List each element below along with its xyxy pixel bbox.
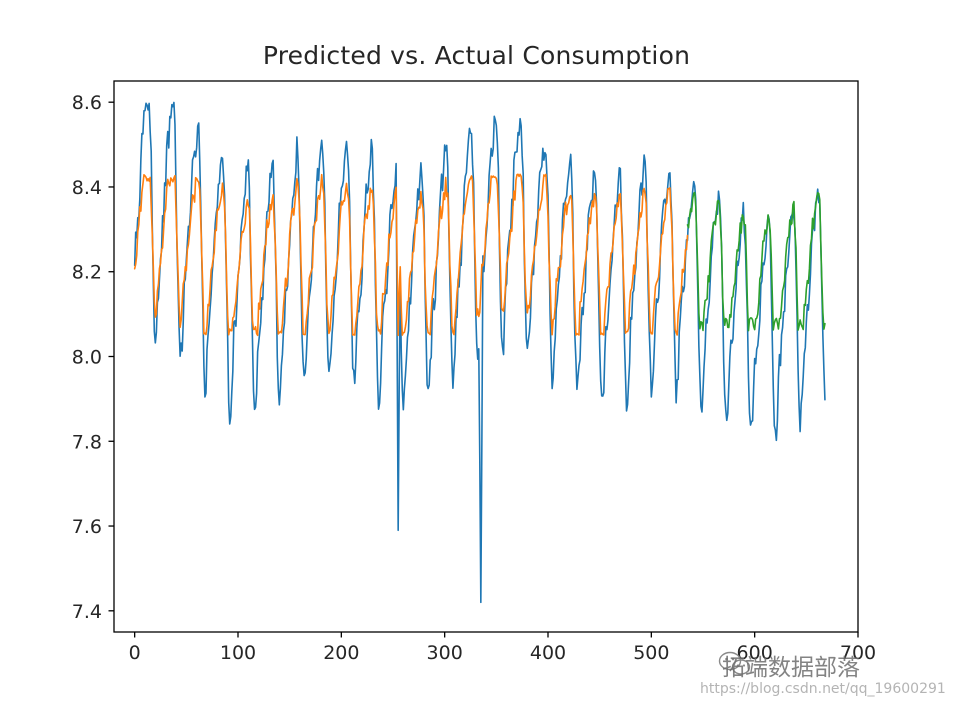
x-tick-label: 500 (633, 642, 669, 664)
y-tick-label: 8.0 (72, 347, 102, 369)
x-tick-label: 200 (323, 642, 359, 664)
x-tick-label: 700 (840, 642, 876, 664)
y-tick-label: 7.4 (72, 601, 102, 623)
y-tick-label: 8.2 (72, 262, 102, 284)
plot-canvas: 01002003004005006007007.47.67.88.08.28.4… (0, 0, 953, 713)
axes-frame (114, 81, 858, 632)
y-tick-label: 7.8 (72, 431, 102, 453)
x-tick-label: 100 (220, 642, 256, 664)
x-tick-label: 600 (737, 642, 773, 664)
x-tick-label: 400 (530, 642, 566, 664)
matplotlib-figure: Predicted vs. Actual Consumption 0100200… (0, 0, 953, 713)
y-tick-label: 7.6 (72, 516, 102, 538)
y-tick-label: 8.6 (72, 92, 102, 114)
x-tick-label: 0 (129, 642, 141, 664)
y-tick-label: 8.4 (72, 177, 102, 199)
x-tick-label: 300 (427, 642, 463, 664)
